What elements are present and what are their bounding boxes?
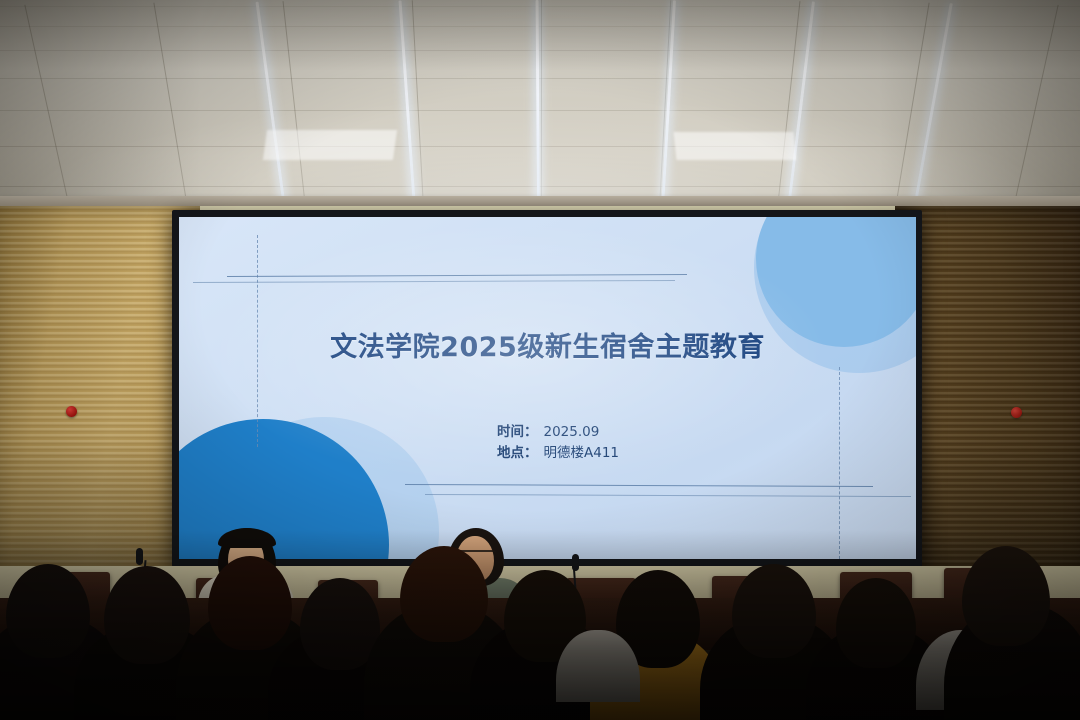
lecture-hall-photo: 文法学院2025级新生宿舍主题教育 时间： 2025.09 地点： 明德楼A41… xyxy=(0,0,1080,720)
slide-meta-time-value: 2025.09 xyxy=(544,422,600,443)
slide-meta-block: 时间： 2025.09 地点： 明德楼A411 xyxy=(497,422,619,464)
decor-dashed-vline-right xyxy=(839,367,840,559)
audience-member xyxy=(732,564,816,658)
audience-member xyxy=(6,564,90,658)
audience-member xyxy=(836,578,916,668)
audience-member xyxy=(208,556,292,650)
slide-meta-time-label: 时间： xyxy=(497,422,538,443)
decor-rule-bottom-upper xyxy=(405,484,873,487)
ceiling-shading xyxy=(0,0,1080,208)
presentation-slide: 文法学院2025级新生宿舍主题教育 时间： 2025.09 地点： 明德楼A41… xyxy=(179,217,916,559)
decor-rule-top-upper xyxy=(227,274,687,277)
audience-row xyxy=(0,560,1080,720)
slide-meta-location-value: 明德楼A411 xyxy=(544,443,620,464)
slide-title: 文法学院2025级新生宿舍主题教育 xyxy=(179,325,916,364)
audience-member xyxy=(962,546,1050,646)
ceiling xyxy=(0,0,1080,208)
speaker-left-hair-front xyxy=(218,528,276,548)
wall-marker-dot-left xyxy=(66,406,77,417)
audience-member xyxy=(104,566,190,664)
decor-rule-top-lower xyxy=(193,280,675,283)
slide-meta-time: 时间： 2025.09 xyxy=(497,422,619,443)
slide-meta-location: 地点： 明德楼A411 xyxy=(497,443,619,464)
slide-meta-location-label: 地点： xyxy=(497,443,538,464)
wall-marker-dot-right xyxy=(1011,407,1022,418)
projection-screen[interactable]: 文法学院2025级新生宿舍主题教育 时间： 2025.09 地点： 明德楼A41… xyxy=(172,210,922,567)
audience-member xyxy=(400,546,488,642)
